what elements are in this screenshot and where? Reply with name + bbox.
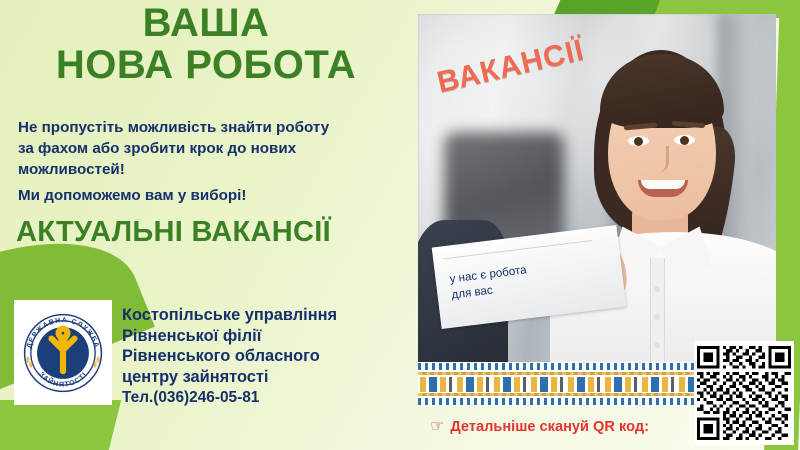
scan-qr-text: Детальніше скануй QR код: [450,419,649,435]
emblem-icon: ДЕРЖАВНА СЛУЖБА ЗАЙНЯТОСТІ [15,305,111,401]
blouse-button [654,342,660,348]
body-line-4: Ми допоможемо вам у виборі! [18,186,408,207]
blouse-button [654,314,660,320]
qr-code-graphic [697,344,791,442]
pointing-hand-icon: ☞ [430,419,444,435]
body-line-2: за фахом або зробити крок до нових [18,139,408,160]
employment-service-logo: ДЕРЖАВНА СЛУЖБА ЗАЙНЯТОСТІ [14,300,112,405]
scan-qr-caption: ☞ Детальніше скануй QR код: [430,419,649,435]
address-line-1: Костопільське управління [122,305,412,326]
document-text: у нас є робота для вас [449,252,612,304]
subheadline: АКТУАЛЬНІ ВАКАНСІЇ [16,216,416,249]
address-line-2: Рівненської філії [122,326,412,347]
body-copy: Не пропустіть можливість знайти роботу з… [18,118,408,207]
green-shape-bottom-left [0,400,121,450]
body-line-1: Не пропустіть можливість знайти роботу [18,118,408,139]
address-line-3: Рівненського обласного [122,346,412,367]
poster-canvas: ВАША НОВА РОБОТА Не пропустіть можливіст… [0,0,800,450]
page-title: ВАША НОВА РОБОТА [0,2,412,87]
blouse-button [654,286,660,292]
photo-woman-with-document: у нас є робота для вас ВАКАНСІЇ [418,14,776,362]
woman-eye-left [628,136,649,146]
office-address: Костопільське управління Рівненської філ… [122,305,412,407]
headline-line-1: ВАША [143,1,270,45]
phone-number: Тел.(036)246-05-81 [122,388,412,407]
woman-nose [652,146,669,172]
body-line-3: можливостей! [18,160,408,181]
woman-eye-right [674,135,695,145]
qr-code[interactable] [694,341,794,445]
address-line-4: центру зайнятості [122,367,412,388]
headline-line-2: НОВА РОБОТА [0,44,412,86]
